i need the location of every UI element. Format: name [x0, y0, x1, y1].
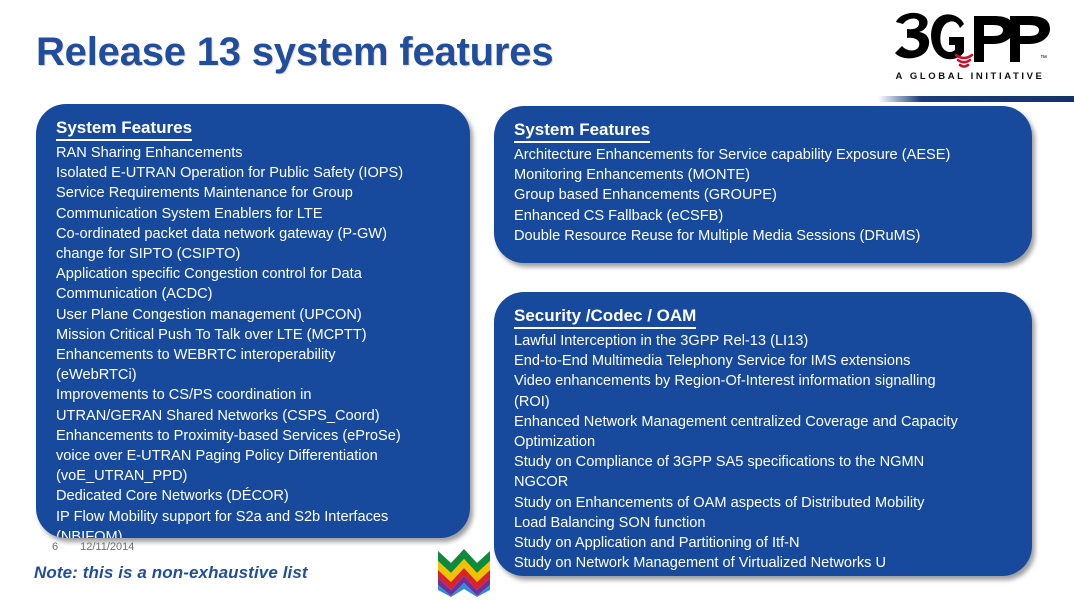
list-item: Enhancements to WEBRTC interoperability … [56, 345, 454, 385]
list-item: Enhanced CS Fallback (eCSFB) [514, 206, 1016, 226]
list-item: User Plane Congestion management (UPCON) [56, 305, 454, 325]
list-item: Lawful Interception in the 3GPP Rel-13 (… [514, 331, 1016, 351]
list-item: Study on Compliance of 3GPP SA5 specific… [514, 452, 1016, 492]
panel-security-codec-oam: Security /Codec / OAM Lawful Interceptio… [494, 292, 1032, 576]
slide-date: 12/11/2014 [80, 541, 134, 553]
list-item: RAN Sharing Enhancements [56, 143, 454, 163]
page-title: Release 13 system features [36, 30, 553, 75]
list-item: Study on Network Management of Virtualiz… [514, 553, 1016, 573]
panel-system-features-left: System Features RAN Sharing Enhancements… [36, 104, 470, 538]
list-item: Co-ordinated packet data network gateway… [56, 224, 454, 264]
list-item: Study on Enhancements of OAM aspects of … [514, 493, 1016, 533]
list-item: IP Flow Mobility support for S2a and S2b… [56, 507, 454, 538]
panel-right-top-list: Architecture Enhancements for Service ca… [514, 145, 1016, 246]
list-item: Double Resource Reuse for Multiple Media… [514, 226, 1016, 246]
list-item: Architecture Enhancements for Service ca… [514, 145, 1016, 165]
footer-note: Note: this is a non-exhaustive list [34, 563, 308, 583]
list-item: Mission Critical Push To Talk over LTE (… [56, 325, 454, 345]
logo-tagline: A GLOBAL INITIATIVE [890, 71, 1050, 82]
page-number: 6 [52, 541, 58, 553]
panel-left-list: RAN Sharing Enhancements Isolated E-UTRA… [56, 143, 454, 538]
list-item: Group based Enhancements (GROUPE) [514, 185, 1016, 205]
list-item: Video enhancements by Region-Of-Interest… [514, 371, 1016, 411]
list-item: Application specific Congestion control … [56, 264, 454, 304]
panel-right-bottom-list: Lawful Interception in the 3GPP Rel-13 (… [514, 331, 1016, 573]
list-item: Study on Application and Partitioning of… [514, 533, 1016, 553]
list-item: Dedicated Core Networks (DÉCOR) [56, 486, 454, 506]
chevron-logo-icon [434, 541, 494, 597]
footer-meta: 6 12/11/2014 [52, 541, 134, 553]
header-accent-bar [878, 96, 1074, 102]
list-item: Enhancements to Proximity-based Services… [56, 426, 454, 446]
panel-right-bottom-heading: Security /Codec / OAM [514, 306, 696, 329]
slide-canvas: Release 13 system features ™ A GLOBAL IN… [0, 0, 1074, 609]
list-item: Enhanced Network Management centralized … [514, 412, 1016, 452]
panel-left-heading: System Features [56, 118, 192, 141]
trademark-mark: ™ [1040, 55, 1047, 62]
list-item: Service Requirements Maintenance for Gro… [56, 183, 454, 223]
panel-right-top-heading: System Features [514, 120, 650, 143]
panel-system-features-right: System Features Architecture Enhancement… [494, 106, 1032, 263]
list-item: End-to-End Multimedia Telephony Service … [514, 351, 1016, 371]
3gpp-logo: ™ A GLOBAL INITIATIVE [890, 8, 1050, 94]
list-item: voice over E-UTRAN Paging Policy Differe… [56, 446, 454, 486]
3gpp-wordmark-icon: ™ [890, 8, 1050, 70]
list-item: Improvements to CS/PS coordination in UT… [56, 385, 454, 425]
list-item: Isolated E-UTRAN Operation for Public Sa… [56, 163, 454, 183]
list-item: Monitoring Enhancements (MONTE) [514, 165, 1016, 185]
